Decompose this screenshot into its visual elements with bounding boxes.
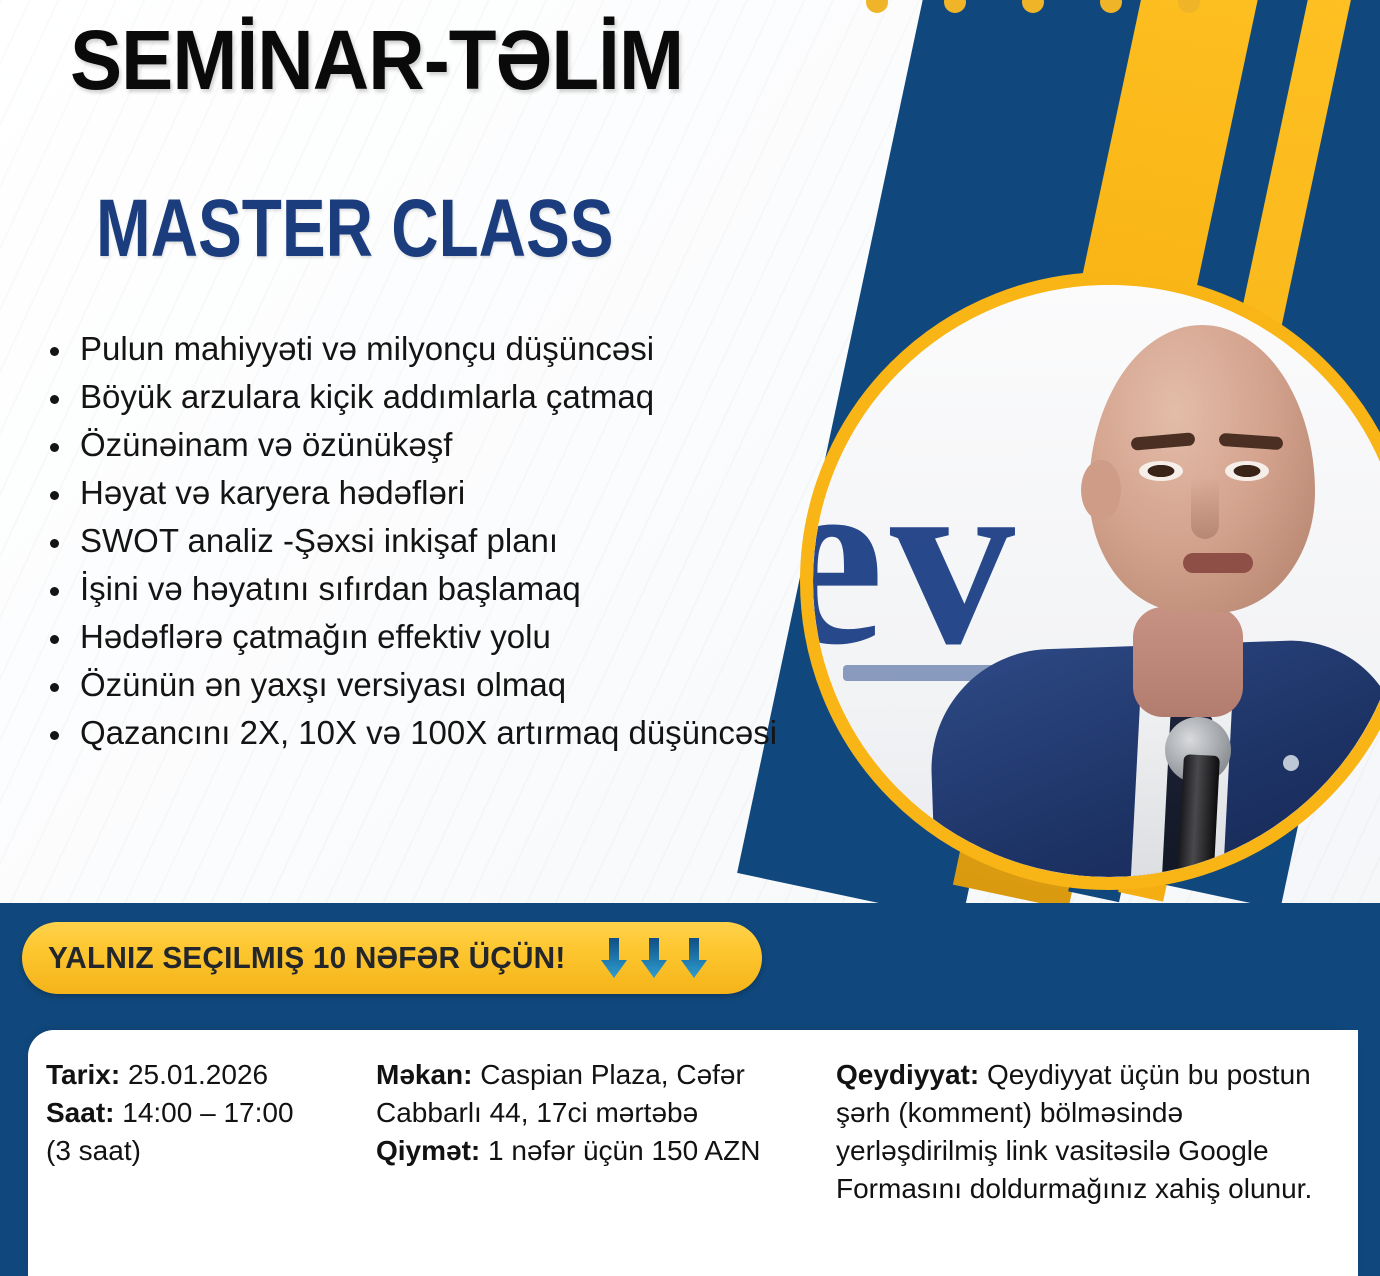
speaker-eye-left [1139,461,1183,481]
backdrop-letters: ev [813,415,1021,703]
date-label: Tarix: [46,1059,120,1090]
price-row: Qiymət: 1 nəfər üçün 150 AZN [376,1132,800,1170]
price-label: Qiymət: [376,1135,480,1166]
speaker-portrait-ring: ev [800,272,1380,890]
date-row: Tarix: 25.01.2026 [46,1056,340,1094]
price-value: 1 nəfər üçün 150 AZN [480,1135,760,1166]
registration-label: Qeydiyyat: [836,1059,979,1090]
down-arrow-icon [641,938,667,978]
details-column-registration: Qeydiyyat: Qeydiyyat üçün bu postun şərh… [818,1056,1338,1276]
event-details-card: Tarix: 25.01.2026 Saat: 14:00 – 17:00 (3… [28,1030,1356,1276]
page-title: SEMİNAR-TƏLİM [70,12,683,109]
registration-row: Qeydiyyat: Qeydiyyat üçün bu postun şərh… [836,1056,1320,1208]
speaker-ear [1081,460,1121,520]
list-item: Qazancını 2X, 10X və 100X artırmaq düşün… [30,714,820,753]
list-item: Hədəflərə çatmağın effektiv yolu [30,618,820,657]
list-item: Böyük arzulara kiçik addımlarla çatmaq [30,378,820,417]
venue-row: Məkan: Caspian Plaza, Cəfər Cabbarlı 44,… [376,1056,800,1132]
poster-canvas: ev SEMİNAR-TƏLİM MASTER CLASS Pulun mahi [0,0,1380,1276]
time-row: Saat: 14:00 – 17:00 [46,1094,340,1132]
down-arrow-icon [681,938,707,978]
list-item: Özünün ən yaxşı versiyası olmaq [30,666,820,705]
time-label: Saat: [46,1097,114,1128]
speaker-portrait-photo: ev [813,285,1380,877]
time-value: 14:00 – 17:00 [114,1097,293,1128]
date-value: 25.01.2026 [120,1059,268,1090]
list-item: Pulun mahiyyəti və milyonçu düşüncəsi [30,330,820,369]
gold-dot-icon [866,0,888,13]
speaker-eye-right [1225,461,1269,481]
details-column-venue: Məkan: Caspian Plaza, Cəfər Cabbarlı 44,… [358,1056,818,1276]
speaker-nose [1191,477,1219,539]
duration-row: (3 saat) [46,1132,340,1170]
page-subtitle: MASTER CLASS [96,182,614,276]
down-arrow-icon [601,938,627,978]
list-item: Həyat və karyera hədəfləri [30,474,820,513]
speaker-neck [1133,607,1243,717]
list-item: SWOT analiz -Şəxsi inkişaf planı [30,522,820,561]
topics-list: Pulun mahiyyəti və milyonçu düşüncəsi Bö… [30,330,820,761]
lapel-pin-icon [1283,755,1299,771]
details-column-schedule: Tarix: 25.01.2026 Saat: 14:00 – 17:00 (3… [28,1056,358,1276]
venue-label: Məkan: [376,1059,472,1090]
limited-seats-label: YALNIZ SEÇILMIŞ 10 NƏFƏR ÜÇÜN! [48,940,565,976]
list-item: Özünəinam və özünükəşf [30,426,820,465]
limited-seats-banner: YALNIZ SEÇILMIŞ 10 NƏFƏR ÜÇÜN! [22,922,762,994]
list-item: İşini və həyatını sıfırdan başlamaq [30,570,820,609]
speaker-mouth [1183,553,1253,573]
